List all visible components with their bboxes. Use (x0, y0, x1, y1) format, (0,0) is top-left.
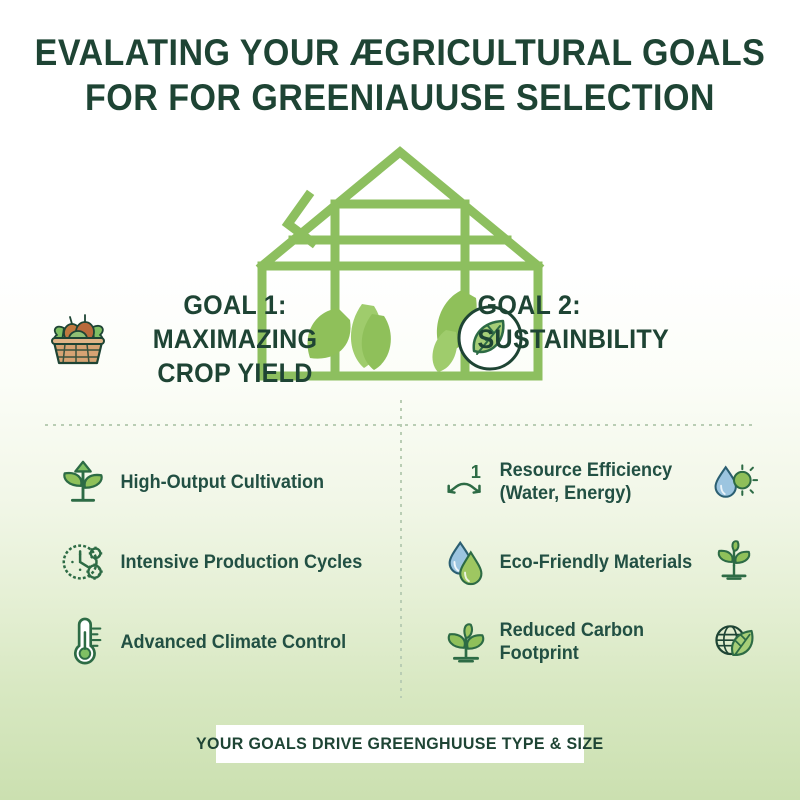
infographic-canvas: EVALATING YOUR ÆGRICULTURAL GOALS FOR FO… (0, 0, 800, 800)
list-item: Eco-Friendly Materials (440, 528, 760, 596)
list-item: 1 Resource Efficiency (Water, Energy) (440, 448, 760, 516)
water-drop-sun-icon (708, 456, 760, 508)
sprout-growth-arrow-icon (55, 454, 111, 510)
svg-text:1: 1 (471, 461, 481, 482)
title-line-1: EVALATING YOUR ÆGRICULTURAL GOALS (32, 30, 768, 75)
thermometer-icon (55, 614, 111, 670)
vertical-divider (400, 400, 402, 698)
goal-1-heading: GOAL 1: MAXIMAZING CROP YIELD (113, 288, 357, 390)
list-item-label: High-Output Cultivation (111, 471, 371, 494)
list-item-label: Reduced Carbon Footprint (492, 619, 697, 665)
list-item: High-Output Cultivation (55, 448, 385, 516)
list-item: Reduced Carbon Footprint (440, 608, 760, 676)
footer-banner: YOUR GOALS DRIVE GREENGHUUSE TYPE & SIZE (216, 725, 584, 763)
list-item-label: Advanced Climate Control (111, 631, 371, 654)
title-line-2: FOR FOR GREENIAUUSE SELECTION (32, 75, 768, 120)
goal-1-feature-list: High-Output Cultivation Intensive Produc… (55, 448, 385, 688)
clock-gears-icon (55, 534, 111, 590)
footer-text: YOUR GOALS DRIVE GREENGHUUSE TYPE & SIZE (196, 734, 604, 754)
goal-2-feature-list: 1 Resource Efficiency (Water, Energy) (440, 448, 760, 688)
list-item: Advanced Climate Control (55, 608, 385, 676)
leaf-plant-icon (440, 616, 492, 668)
potted-sprout-icon (708, 536, 760, 588)
list-item-label: Eco-Friendly Materials (492, 551, 697, 574)
list-item: Intensive Production Cycles (55, 528, 385, 596)
vegetable-basket-icon (44, 306, 112, 370)
list-item-label: Resource Efficiency (Water, Energy) (492, 459, 697, 505)
arrow-curve-one-icon: 1 (440, 456, 492, 508)
page-title: EVALATING YOUR ÆGRICULTURAL GOALS FOR FO… (0, 30, 800, 120)
two-droplets-icon (440, 536, 492, 588)
goal-2-heading: GOAL 2: SUSTAINBILITY (478, 288, 731, 356)
list-item-label: Intensive Production Cycles (111, 551, 371, 574)
globe-leaf-icon (708, 616, 760, 668)
